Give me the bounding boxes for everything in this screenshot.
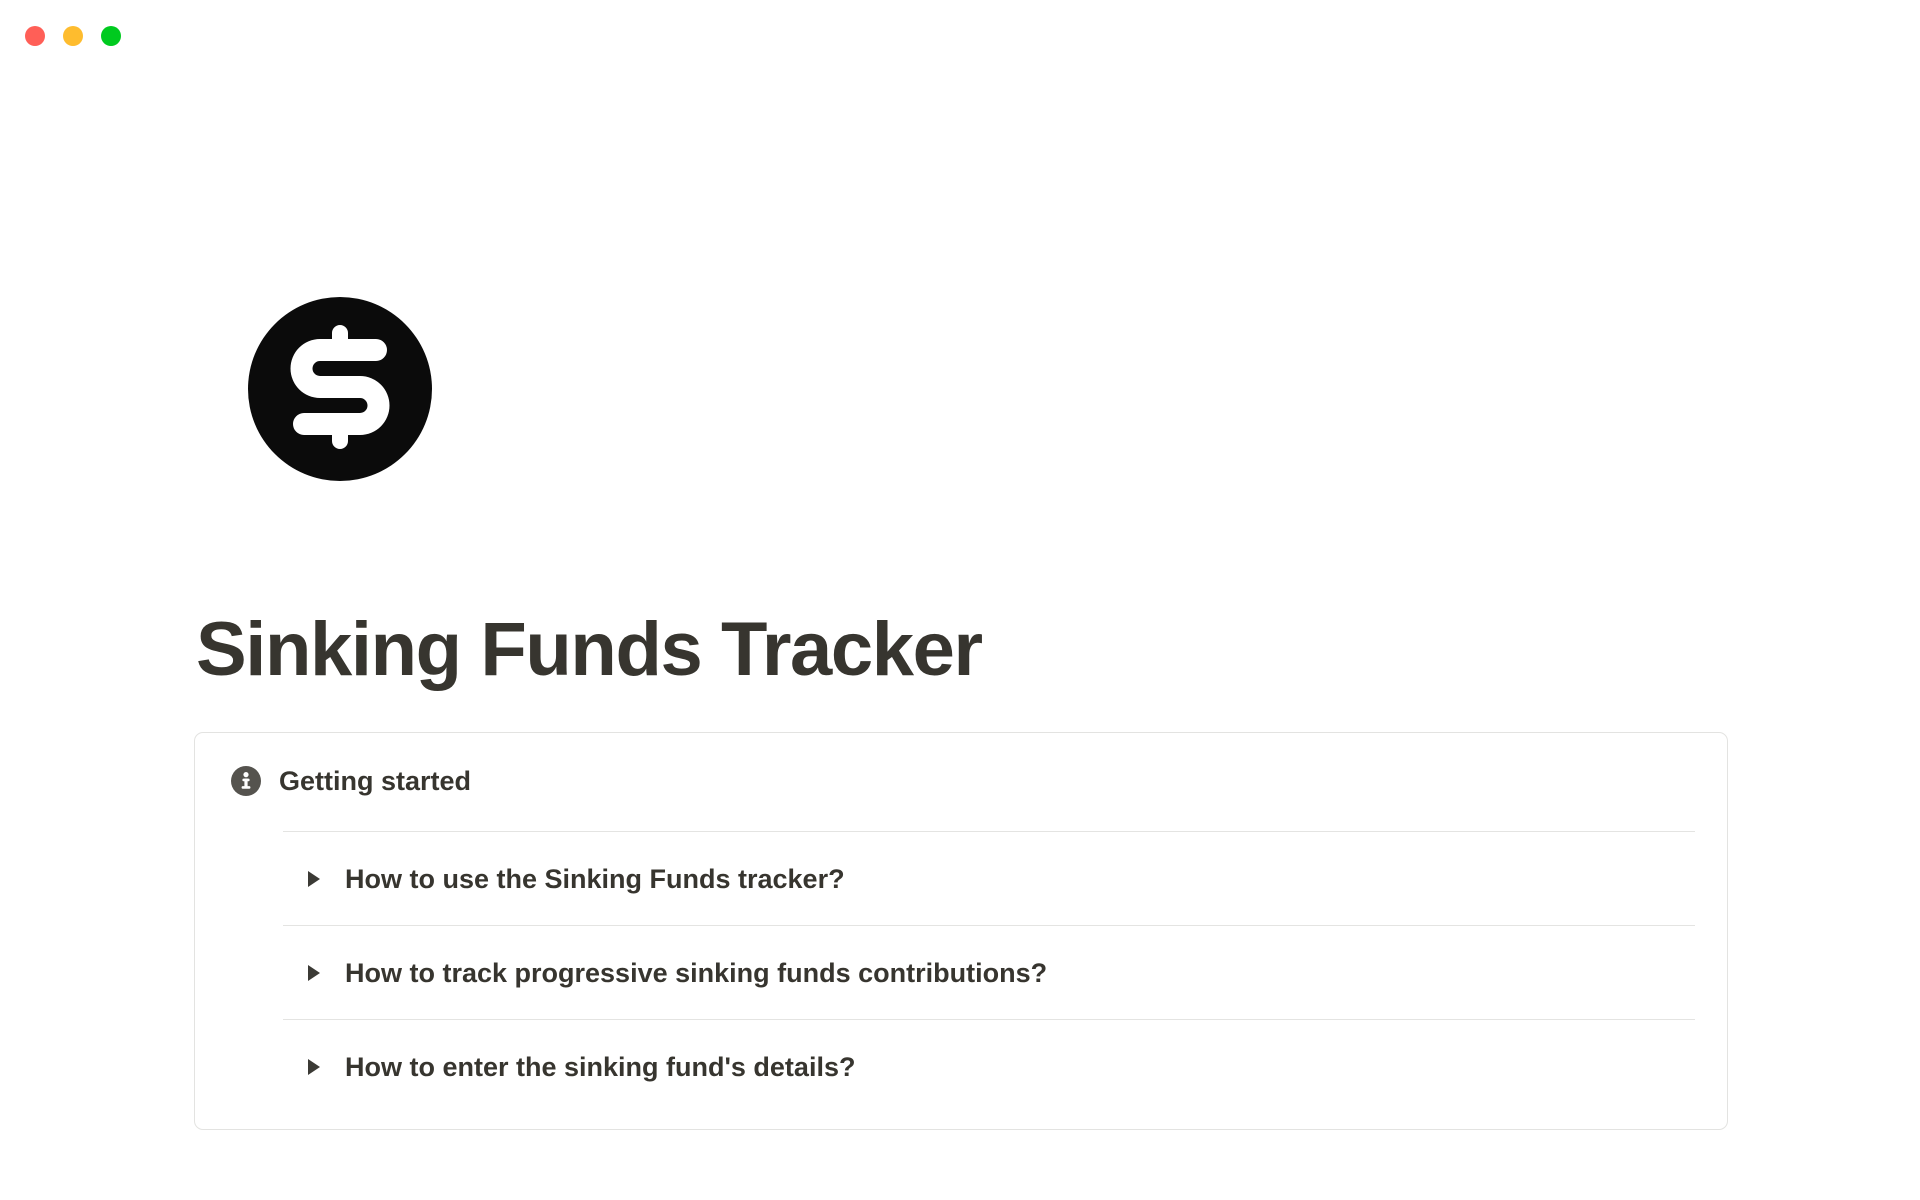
app-window: Sinking Funds Tracker Getting started — [0, 0, 1920, 1200]
toggle-label[interactable]: How to enter the sinking fund's details? — [345, 1050, 855, 1084]
getting-started-callout: Getting started How to use the Sinking F… — [194, 732, 1728, 1130]
page-title[interactable]: Sinking Funds Tracker — [196, 602, 1736, 698]
callout-header: Getting started — [231, 765, 471, 797]
toggle-label[interactable]: How to track progressive sinking funds c… — [345, 956, 1047, 990]
page-content: Sinking Funds Tracker Getting started — [0, 0, 1920, 1200]
toggle-list: How to use the Sinking Funds tracker? Ho… — [283, 831, 1695, 1113]
toggle-row[interactable]: How to enter the sinking fund's details? — [283, 1020, 1695, 1113]
dollar-coin-icon[interactable] — [248, 297, 432, 481]
triangle-right-icon[interactable] — [305, 869, 323, 889]
toggle-row[interactable]: How to track progressive sinking funds c… — [283, 926, 1695, 1019]
toggle-label[interactable]: How to use the Sinking Funds tracker? — [345, 862, 845, 896]
callout-title: Getting started — [279, 765, 471, 797]
triangle-right-icon[interactable] — [305, 963, 323, 983]
triangle-right-icon[interactable] — [305, 1057, 323, 1077]
toggle-row[interactable]: How to use the Sinking Funds tracker? — [283, 832, 1695, 925]
info-circle-icon — [231, 766, 261, 796]
